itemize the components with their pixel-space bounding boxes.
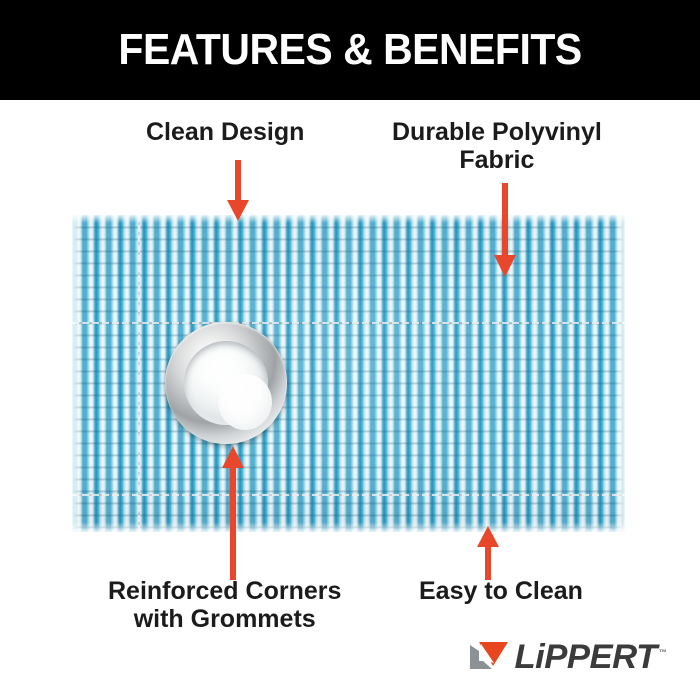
arrow-up-easy-to-clean: [476, 525, 500, 580]
callout-label-easy-to-clean: Easy to Clean: [419, 577, 583, 605]
infographic-stage: Clean Design Durable Polyvinyl Fabric Re…: [0, 100, 700, 700]
lippert-logo: LiPPERT™: [468, 633, 668, 681]
fabric-swatch-image: [72, 215, 625, 532]
trademark-symbol: ™: [659, 648, 667, 657]
arrow-up-reinforced-corners: [221, 445, 245, 580]
lippert-wordmark-text: LiPPERT: [515, 638, 657, 676]
callout-line: Easy to Clean: [419, 577, 583, 605]
grommet-inner-ring: [184, 341, 268, 425]
arrow-down-durable-fabric: [493, 183, 517, 278]
metal-grommet: [165, 322, 287, 444]
lippert-wordmark: LiPPERT™: [515, 638, 667, 677]
callout-line: Clean Design: [146, 118, 304, 146]
callout-line: Durable Polyvinyl: [392, 118, 602, 146]
grommet-hole: [218, 374, 272, 430]
callout-line: Fabric: [392, 146, 602, 174]
header-bar: FEATURES & BENEFITS: [0, 0, 700, 100]
callout-line: with Grommets: [108, 605, 341, 633]
callout-line: Reinforced Corners: [108, 577, 341, 605]
lippert-chevron-mark: [468, 639, 512, 675]
page-title: FEATURES & BENEFITS: [118, 25, 581, 75]
callout-label-reinforced-corners-with-grommets: Reinforced Corners with Grommets: [108, 577, 341, 634]
fabric-edge-fade: [72, 215, 625, 532]
arrow-down-clean-design: [226, 160, 250, 222]
callout-label-clean-design: Clean Design: [146, 118, 304, 146]
callout-label-durable-polyvinyl-fabric: Durable Polyvinyl Fabric: [392, 118, 602, 175]
